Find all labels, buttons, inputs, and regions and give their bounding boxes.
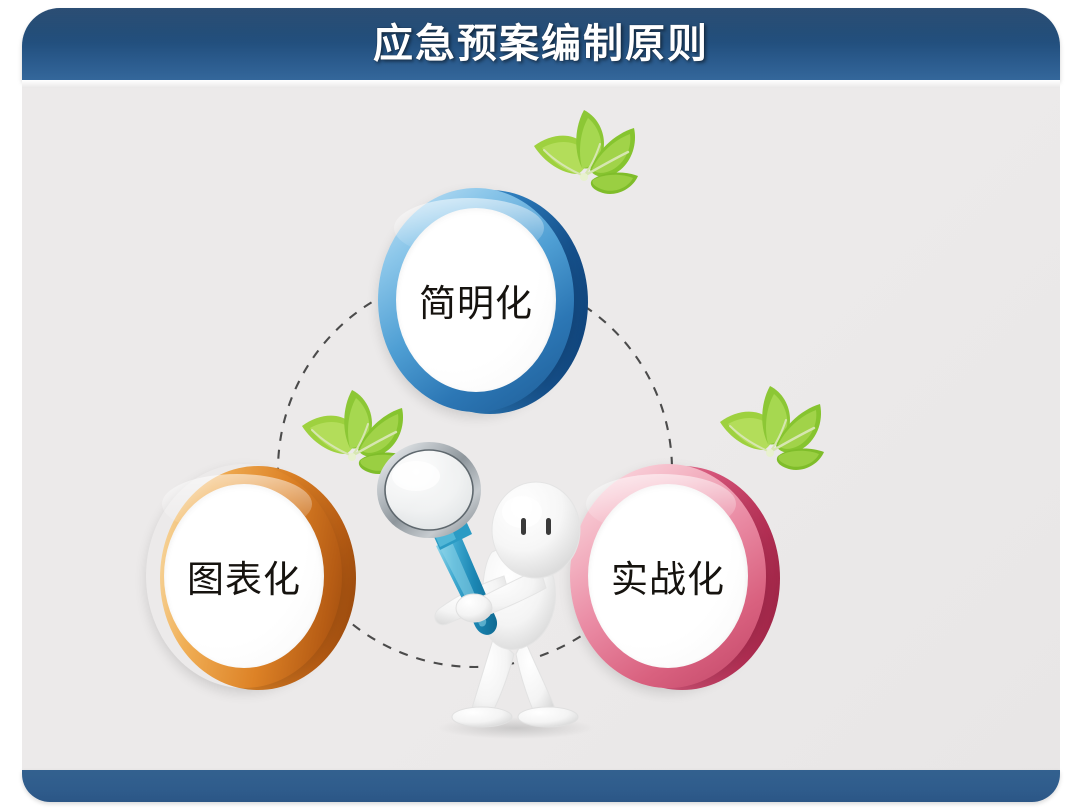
- page-title: 应急预案编制原则: [22, 8, 1060, 80]
- node-left-disc[interactable]: 图表化: [146, 464, 358, 692]
- header-banner: 应急预案编制原则: [22, 8, 1060, 80]
- node-right-disc[interactable]: 实战化: [570, 464, 782, 692]
- diagram-canvas: 简明化 图表化: [22, 88, 1060, 770]
- node-left-label: 图表化: [164, 484, 324, 668]
- footer-bar: [22, 770, 1060, 802]
- header-underline: [22, 80, 1060, 88]
- node-top-disc[interactable]: 简明化: [378, 188, 590, 416]
- slide: 应急预案编制原则 简明化: [0, 0, 1080, 810]
- node-top-label: 简明化: [396, 208, 556, 392]
- node-right-label: 实战化: [588, 484, 748, 668]
